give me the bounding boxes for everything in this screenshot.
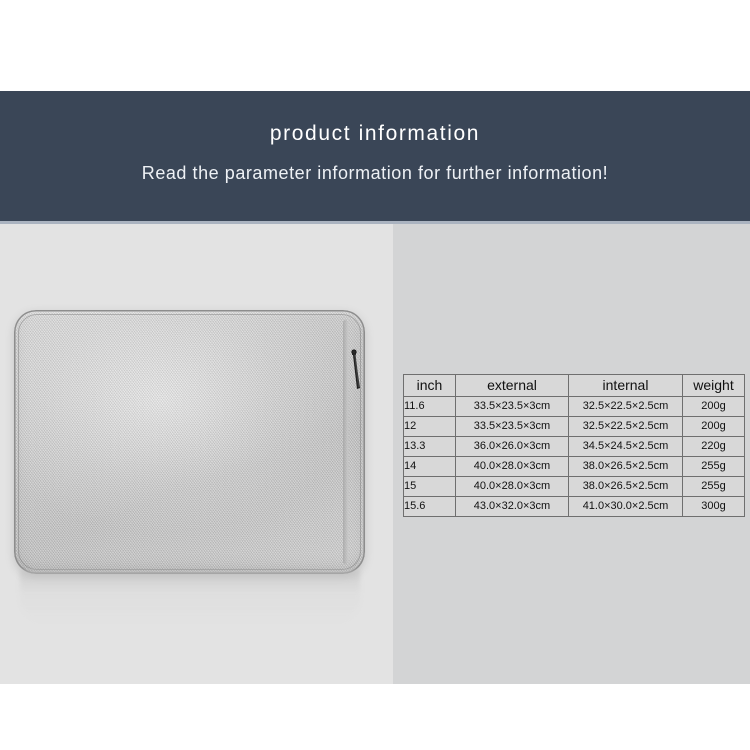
product-information-page: product information Read the parameter i…	[0, 0, 750, 750]
product-reflection	[20, 570, 360, 622]
cell-external: 36.0×26.0×3cm	[456, 437, 569, 457]
table-row: 11.6 33.5×23.5×3cm 32.5×22.5×2.5cm 200g	[404, 397, 745, 417]
page-title: product information	[0, 120, 750, 148]
page-subtitle: Read the parameter information for furth…	[0, 161, 750, 185]
cell-external: 40.0×28.0×3cm	[456, 457, 569, 477]
cell-inch: 13.3	[404, 437, 456, 457]
table-row: 14 40.0×28.0×3cm 38.0×26.5×2.5cm 255g	[404, 457, 745, 477]
cell-weight: 200g	[683, 417, 745, 437]
cell-inch: 14	[404, 457, 456, 477]
specification-table: inch external internal weight 11.6 33.5×…	[403, 374, 745, 517]
cell-inch: 11.6	[404, 397, 456, 417]
cell-internal: 32.5×22.5×2.5cm	[569, 417, 683, 437]
cell-internal: 41.0×30.0×2.5cm	[569, 497, 683, 517]
laptop-sleeve-body	[14, 310, 365, 574]
product-photo	[0, 224, 393, 684]
cell-inch: 15	[404, 477, 456, 497]
cell-weight: 255g	[683, 477, 745, 497]
cell-external: 33.5×23.5×3cm	[456, 397, 569, 417]
cell-internal: 32.5×22.5×2.5cm	[569, 397, 683, 417]
cell-internal: 38.0×26.5×2.5cm	[569, 477, 683, 497]
cell-internal: 34.5×24.5×2.5cm	[569, 437, 683, 457]
table-row: 13.3 36.0×26.0×3cm 34.5×24.5×2.5cm 220g	[404, 437, 745, 457]
table-header-row: inch external internal weight	[404, 375, 745, 397]
column-header-external: external	[456, 375, 569, 397]
cell-external: 33.5×23.5×3cm	[456, 417, 569, 437]
table-row: 12 33.5×23.5×3cm 32.5×22.5×2.5cm 200g	[404, 417, 745, 437]
column-header-inch: inch	[404, 375, 456, 397]
cell-inch: 15.6	[404, 497, 456, 517]
table-row: 15 40.0×28.0×3cm 38.0×26.5×2.5cm 255g	[404, 477, 745, 497]
cell-weight: 255g	[683, 457, 745, 477]
cell-external: 40.0×28.0×3cm	[456, 477, 569, 497]
column-header-internal: internal	[569, 375, 683, 397]
cell-internal: 38.0×26.5×2.5cm	[569, 457, 683, 477]
cell-weight: 300g	[683, 497, 745, 517]
zipper-pull-icon	[347, 348, 363, 400]
cell-weight: 200g	[683, 397, 745, 417]
cell-inch: 12	[404, 417, 456, 437]
cell-weight: 220g	[683, 437, 745, 457]
header-banner	[0, 91, 750, 221]
cell-external: 43.0×32.0×3cm	[456, 497, 569, 517]
table-row: 15.6 43.0×32.0×3cm 41.0×30.0×2.5cm 300g	[404, 497, 745, 517]
column-header-weight: weight	[683, 375, 745, 397]
